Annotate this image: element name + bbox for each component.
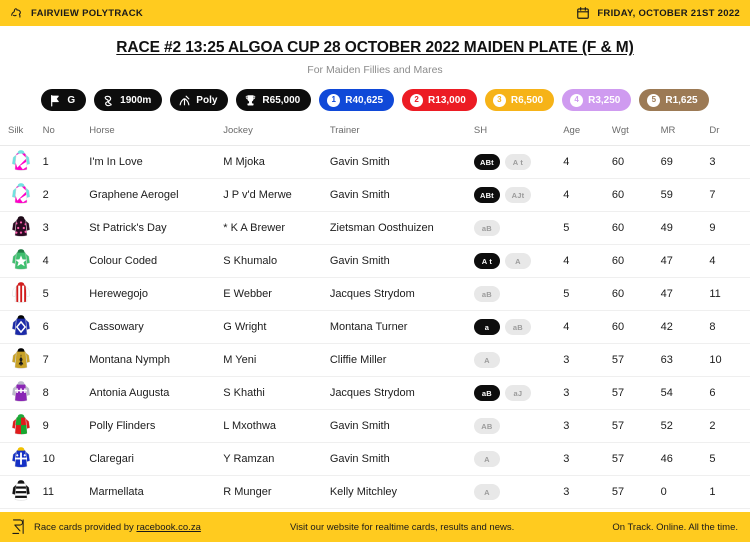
merit-rating: 46 <box>661 443 710 476</box>
horse-weight: 57 <box>612 344 661 377</box>
runners-table: Silk No Horse Jockey Trainer SH Age Wgt … <box>0 125 750 509</box>
trainer-name: Jacques Strydom <box>330 278 474 311</box>
sh-badge-group: aB <box>474 220 563 236</box>
sh-badges: ABtA t <box>474 146 563 179</box>
jockey-name: E Webber <box>223 278 330 311</box>
table-body: 1I'm In LoveM MjokaGavin SmithABtA t4606… <box>0 146 750 509</box>
sh-badges: aaB <box>474 311 563 344</box>
sh-badges: A tA <box>474 245 563 278</box>
table-row[interactable]: 3St Patrick's Day* K A BrewerZietsman Oo… <box>0 212 750 245</box>
jockey-name: R Munger <box>223 476 330 509</box>
sh-badge-group: aB <box>474 286 563 302</box>
runner-number: 10 <box>43 443 90 476</box>
status-badge[interactable]: AB <box>474 418 500 434</box>
position-number: 4 <box>570 94 583 107</box>
status-badge[interactable]: aB <box>474 286 500 302</box>
merit-rating: 69 <box>661 146 710 179</box>
col-header-mr[interactable]: MR <box>661 125 710 146</box>
runner-number: 8 <box>43 377 90 410</box>
sh-badges: aB <box>474 212 563 245</box>
table-row[interactable]: 7Montana NymphM YeniCliffie MillerA35763… <box>0 344 750 377</box>
jockey-silk <box>0 410 43 443</box>
racebook-logo-icon <box>10 518 26 536</box>
pill-label: G <box>67 95 75 106</box>
race-info-pills: G1900mPolyR65,0001R40,6252R13,0003R6,500… <box>0 89 750 111</box>
track-icon <box>102 94 115 107</box>
horse-name: Montana Nymph <box>89 344 223 377</box>
draw-number: 9 <box>709 212 750 245</box>
table-row[interactable]: 1I'm In LoveM MjokaGavin SmithABtA t4606… <box>0 146 750 179</box>
status-badge[interactable]: A <box>474 451 500 467</box>
horse-weight: 57 <box>612 410 661 443</box>
trainer-name: Gavin Smith <box>330 245 474 278</box>
table-header: Silk No Horse Jockey Trainer SH Age Wgt … <box>0 125 750 146</box>
grass-icon <box>178 94 191 107</box>
horse-age: 4 <box>563 179 612 212</box>
draw-number: 4 <box>709 245 750 278</box>
sh-badge-group: A tA <box>474 253 563 269</box>
table-row[interactable]: 10ClaregariY RamzanGavin SmithA357465 <box>0 443 750 476</box>
race-pill-prize-4[interactable]: 4R3,250 <box>562 89 631 111</box>
horse-weight: 60 <box>612 278 661 311</box>
pill-label: R1,625 <box>665 95 697 106</box>
pill-label: 1900m <box>120 95 151 106</box>
jockey-silk <box>0 377 43 410</box>
sh-badges: ABtAJt <box>474 179 563 212</box>
footer-provided-text: Race cards provided by racebook.co.za <box>34 522 201 533</box>
position-number: 5 <box>647 94 660 107</box>
merit-rating: 59 <box>661 179 710 212</box>
trainer-name: Montana Turner <box>330 311 474 344</box>
draw-number: 2 <box>709 410 750 443</box>
sh-badge-group: A <box>474 352 563 368</box>
horse-weight: 60 <box>612 245 661 278</box>
page-title: RACE #2 13:25 ALGOA CUP 28 OCTOBER 2022 … <box>0 39 750 57</box>
race-pill-grass[interactable]: Poly <box>170 89 228 111</box>
horse-icon <box>10 6 24 20</box>
horse-name: I'm In Love <box>89 146 223 179</box>
horse-age: 3 <box>563 410 612 443</box>
horse-name: Marmellata <box>89 476 223 509</box>
horse-age: 4 <box>563 146 612 179</box>
date-label: FRIDAY, OCTOBER 21ST 2022 <box>597 8 740 19</box>
jockey-silk <box>0 311 43 344</box>
sh-badge-group: AB <box>474 418 563 434</box>
pill-label: R40,625 <box>345 95 383 106</box>
horse-weight: 60 <box>612 311 661 344</box>
table-row[interactable]: 8Antonia AugustaS KhathiJacques Strydoma… <box>0 377 750 410</box>
position-number: 1 <box>327 94 340 107</box>
sh-badge-group: A <box>474 451 563 467</box>
col-header-age[interactable]: Age <box>563 125 612 146</box>
jockey-name: J P v'd Merwe <box>223 179 330 212</box>
jockey-name: M Yeni <box>223 344 330 377</box>
runner-number: 5 <box>43 278 90 311</box>
draw-number: 5 <box>709 443 750 476</box>
runner-number: 2 <box>43 179 90 212</box>
trainer-name: Gavin Smith <box>330 146 474 179</box>
trainer-name: Kelly Mitchley <box>330 476 474 509</box>
horse-weight: 57 <box>612 377 661 410</box>
footer-provided-prefix: Race cards provided by <box>34 522 136 533</box>
status-badge[interactable]: aB <box>474 220 500 236</box>
table-row[interactable]: 5HerewegojoE WebberJacques StrydomaB5604… <box>0 278 750 311</box>
merit-rating: 63 <box>661 344 710 377</box>
merit-rating: 52 <box>661 410 710 443</box>
race-pill-prize-2[interactable]: 2R13,000 <box>402 89 477 111</box>
trainer-name: Gavin Smith <box>330 410 474 443</box>
draw-number: 8 <box>709 311 750 344</box>
merit-rating: 42 <box>661 311 710 344</box>
sh-badges: A <box>474 476 563 509</box>
table-row[interactable]: 4Colour CodedS KhumaloGavin SmithA tA460… <box>0 245 750 278</box>
sh-badges: A <box>474 443 563 476</box>
horse-name: Polly Flinders <box>89 410 223 443</box>
horse-name: Graphene Aerogel <box>89 179 223 212</box>
merit-rating: 0 <box>661 476 710 509</box>
table-header-row: Silk No Horse Jockey Trainer SH Age Wgt … <box>0 125 750 146</box>
sh-badge-group: A <box>474 484 563 500</box>
table-row[interactable]: 11MarmellataR MungerKelly MitchleyA35701 <box>0 476 750 509</box>
trainer-name: Zietsman Oosthuizen <box>330 212 474 245</box>
footer-tagline: On Track. Online. All the time. <box>612 522 750 533</box>
runner-number: 4 <box>43 245 90 278</box>
horse-name: Colour Coded <box>89 245 223 278</box>
status-badge[interactable]: ABt <box>474 187 500 203</box>
jockey-silk <box>0 344 43 377</box>
horse-weight: 60 <box>612 179 661 212</box>
runner-number: 11 <box>43 476 90 509</box>
race-pill-trophy[interactable]: R65,000 <box>236 89 311 111</box>
horse-age: 5 <box>563 212 612 245</box>
jockey-silk <box>0 212 43 245</box>
status-badge[interactable]: A <box>505 253 531 269</box>
jockey-name: * K A Brewer <box>223 212 330 245</box>
runner-number: 3 <box>43 212 90 245</box>
race-pill-prize-5[interactable]: 5R1,625 <box>639 89 708 111</box>
topbar-venue-group: FAIRVIEW POLYTRACK <box>10 6 143 20</box>
trophy-icon <box>244 94 257 107</box>
col-header-dr[interactable]: Dr <box>709 125 750 146</box>
position-number: 3 <box>493 94 506 107</box>
pill-label: R65,000 <box>262 95 300 106</box>
draw-number: 10 <box>709 344 750 377</box>
race-pill-flag[interactable]: G <box>41 89 86 111</box>
draw-number: 6 <box>709 377 750 410</box>
trainer-name: Cliffie Miller <box>330 344 474 377</box>
status-badge[interactable]: A t <box>474 253 500 269</box>
venue-label: FAIRVIEW POLYTRACK <box>31 8 143 19</box>
trainer-name: Jacques Strydom <box>330 377 474 410</box>
jockey-silk <box>0 146 43 179</box>
runner-number: 7 <box>43 344 90 377</box>
trainer-name: Gavin Smith <box>330 443 474 476</box>
top-bar: FAIRVIEW POLYTRACK FRIDAY, OCTOBER 21ST … <box>0 0 750 26</box>
footer-middle-text: Visit our website for realtime cards, re… <box>290 522 612 533</box>
horse-name: St Patrick's Day <box>89 212 223 245</box>
col-header-sh[interactable]: SH <box>474 125 563 146</box>
col-header-wgt[interactable]: Wgt <box>612 125 661 146</box>
horse-age: 3 <box>563 443 612 476</box>
status-badge[interactable]: a <box>474 319 500 335</box>
footer-provider-group: Race cards provided by racebook.co.za <box>0 518 290 536</box>
sh-badges: A <box>474 344 563 377</box>
table-row[interactable]: 2Graphene AerogelJ P v'd MerweGavin Smit… <box>0 179 750 212</box>
footer-bar: Race cards provided by racebook.co.za Vi… <box>0 512 750 542</box>
status-badge[interactable]: AJt <box>505 187 531 203</box>
position-number: 2 <box>410 94 423 107</box>
horse-weight: 57 <box>612 443 661 476</box>
sh-badge-group: aBaJ <box>474 385 563 401</box>
draw-number: 7 <box>709 179 750 212</box>
table-row[interactable]: 6CassowaryG WrightMontana TurneraaB46042… <box>0 311 750 344</box>
jockey-silk <box>0 443 43 476</box>
sh-badges: aBaJ <box>474 377 563 410</box>
sh-badges: AB <box>474 410 563 443</box>
horse-weight: 60 <box>612 212 661 245</box>
horse-weight: 60 <box>612 146 661 179</box>
jockey-silk <box>0 476 43 509</box>
horse-age: 4 <box>563 311 612 344</box>
merit-rating: 47 <box>661 245 710 278</box>
pill-label: R6,500 <box>511 95 543 106</box>
race-pill-prize-3[interactable]: 3R6,500 <box>485 89 554 111</box>
status-badge[interactable]: A <box>474 484 500 500</box>
table-row[interactable]: 9Polly FlindersL MxothwaGavin SmithAB357… <box>0 410 750 443</box>
horse-name: Herewegojo <box>89 278 223 311</box>
status-badge[interactable]: aB <box>505 319 531 335</box>
status-badge[interactable]: aB <box>474 385 500 401</box>
merit-rating: 47 <box>661 278 710 311</box>
horse-name: Claregari <box>89 443 223 476</box>
horse-age: 3 <box>563 476 612 509</box>
runner-number: 6 <box>43 311 90 344</box>
horse-age: 3 <box>563 377 612 410</box>
pill-label: R3,250 <box>588 95 620 106</box>
sh-badge-group: aaB <box>474 319 563 335</box>
jockey-silk <box>0 179 43 212</box>
sh-badge-group: ABtA t <box>474 154 563 170</box>
jockey-name: M Mjoka <box>223 146 330 179</box>
horse-weight: 57 <box>612 476 661 509</box>
status-badge[interactable]: aJ <box>505 385 531 401</box>
sh-badge-group: ABtAJt <box>474 187 563 203</box>
trainer-name: Gavin Smith <box>330 179 474 212</box>
calendar-icon <box>576 6 590 20</box>
jockey-name: S Khathi <box>223 377 330 410</box>
horse-age: 4 <box>563 245 612 278</box>
horse-age: 3 <box>563 344 612 377</box>
race-header: RACE #2 13:25 ALGOA CUP 28 OCTOBER 2022 … <box>0 26 750 76</box>
status-badge[interactable]: ABt <box>474 154 500 170</box>
status-badge[interactable]: A <box>474 352 500 368</box>
col-header-no[interactable]: No <box>43 125 90 146</box>
runner-number: 1 <box>43 146 90 179</box>
jockey-name: Y Ramzan <box>223 443 330 476</box>
col-header-silk[interactable]: Silk <box>0 125 43 146</box>
pill-label: Poly <box>196 95 217 106</box>
racebook-link[interactable]: racebook.co.za <box>136 522 200 533</box>
col-header-trainer[interactable]: Trainer <box>330 125 474 146</box>
horse-name: Cassowary <box>89 311 223 344</box>
race-subtitle: For Maiden Fillies and Mares <box>0 64 750 76</box>
merit-rating: 54 <box>661 377 710 410</box>
jockey-name: L Mxothwa <box>223 410 330 443</box>
status-badge[interactable]: A t <box>505 154 531 170</box>
draw-number: 3 <box>709 146 750 179</box>
runner-number: 9 <box>43 410 90 443</box>
col-header-horse[interactable]: Horse <box>89 125 223 146</box>
col-header-jockey[interactable]: Jockey <box>223 125 330 146</box>
sh-badges: aB <box>474 278 563 311</box>
jockey-silk <box>0 245 43 278</box>
jockey-silk <box>0 278 43 311</box>
race-pill-prize-1[interactable]: 1R40,625 <box>319 89 394 111</box>
jockey-name: G Wright <box>223 311 330 344</box>
race-pill-track[interactable]: 1900m <box>94 89 162 111</box>
pill-label: R13,000 <box>428 95 466 106</box>
topbar-date-group: FRIDAY, OCTOBER 21ST 2022 <box>576 6 740 20</box>
jockey-name: S Khumalo <box>223 245 330 278</box>
merit-rating: 49 <box>661 212 710 245</box>
horse-name: Antonia Augusta <box>89 377 223 410</box>
draw-number: 11 <box>709 278 750 311</box>
flag-icon <box>49 94 62 107</box>
draw-number: 1 <box>709 476 750 509</box>
horse-age: 5 <box>563 278 612 311</box>
